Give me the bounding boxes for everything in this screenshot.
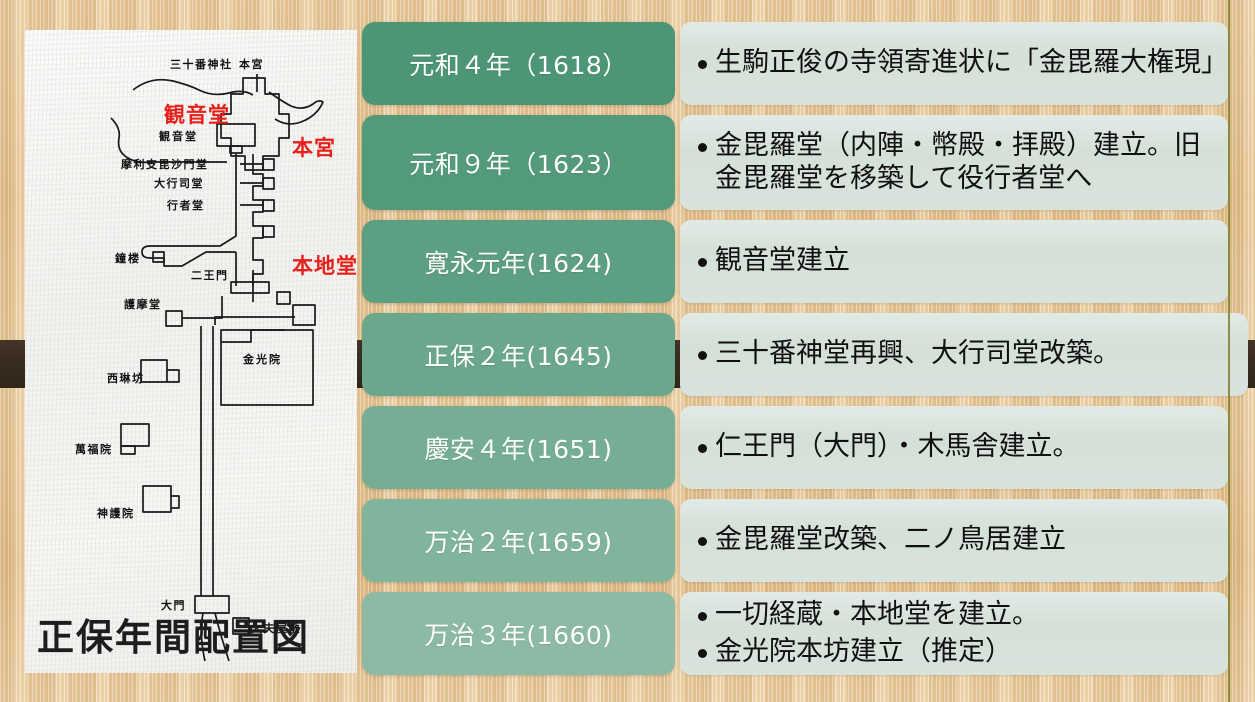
timeline-list: 生駒正俊の寺領寄進状に「金毘羅大権現」元和４年（1618）金毘羅堂（内陣・幣殿・… bbox=[0, 0, 1255, 702]
timeline-bullet-text: 金毘羅堂改築、二ノ鳥居建立 bbox=[715, 524, 1218, 557]
timeline-bullet: 仁王門（大門）・木馬舎建立。 bbox=[698, 431, 1218, 464]
bullet-dot-icon bbox=[698, 351, 707, 360]
timeline-bullet: 観音堂建立 bbox=[698, 245, 1218, 278]
timeline-content-panel: 三十番神堂再興、大行司堂改築。 bbox=[680, 313, 1248, 396]
timeline-content-panel: 生駒正俊の寺領寄進状に「金毘羅大権現」 bbox=[680, 22, 1228, 105]
timeline-year-label[interactable]: 寛永元年(1624) bbox=[362, 220, 675, 303]
timeline-content-panel: 金毘羅堂改築、二ノ鳥居建立 bbox=[680, 499, 1228, 582]
bullet-dot-icon bbox=[698, 649, 707, 658]
timeline-content-panel: 仁王門（大門）・木馬舎建立。 bbox=[680, 406, 1228, 489]
timeline-row[interactable]: 観音堂建立寛永元年(1624) bbox=[362, 220, 1228, 303]
bullet-dot-icon bbox=[698, 143, 707, 152]
timeline-bullet: 金毘羅堂改築、二ノ鳥居建立 bbox=[698, 524, 1218, 557]
bullet-dot-icon bbox=[698, 60, 707, 69]
timeline-year-label[interactable]: 万治３年(1660) bbox=[362, 592, 675, 675]
timeline-year-text: 万治２年(1659) bbox=[424, 523, 612, 559]
timeline-row[interactable]: 金毘羅堂改築、二ノ鳥居建立万治２年(1659) bbox=[362, 499, 1228, 582]
timeline-row[interactable]: 仁王門（大門）・木馬舎建立。慶安４年(1651) bbox=[362, 406, 1228, 489]
timeline-bullet: 生駒正俊の寺領寄進状に「金毘羅大権現」 bbox=[698, 47, 1218, 80]
timeline-bullet-text: 仁王門（大門）・木馬舎建立。 bbox=[715, 431, 1218, 464]
timeline-row[interactable]: 一切経蔵・本地堂を建立。金光院本坊建立（推定）万治３年(1660) bbox=[362, 592, 1228, 675]
timeline-row[interactable]: 生駒正俊の寺領寄進状に「金毘羅大権現」元和４年（1618） bbox=[362, 22, 1228, 105]
timeline-row[interactable]: 金毘羅堂（内陣・幣殿・拝殿）建立。旧金毘羅堂を移築して役行者堂へ元和９年（162… bbox=[362, 115, 1228, 210]
timeline-year-label[interactable]: 正保２年(1645) bbox=[362, 313, 675, 396]
timeline-row[interactable]: 三十番神堂再興、大行司堂改築。正保２年(1645) bbox=[362, 313, 1248, 396]
bullet-dot-icon bbox=[698, 258, 707, 267]
slide-canvas: 三十番神社 本宮 観音堂 摩利支毘沙門堂 大行司堂 行者堂 鐘楼 二王門 護摩堂… bbox=[0, 0, 1255, 702]
timeline-year-label[interactable]: 万治２年(1659) bbox=[362, 499, 675, 582]
timeline-year-text: 慶安４年(1651) bbox=[424, 430, 612, 466]
accent-edge-line bbox=[1228, 0, 1230, 702]
timeline-year-text: 元和４年（1618） bbox=[409, 46, 628, 82]
timeline-content-panel: 金毘羅堂（内陣・幣殿・拝殿）建立。旧金毘羅堂を移築して役行者堂へ bbox=[680, 115, 1228, 210]
timeline-year-label[interactable]: 元和９年（1623） bbox=[362, 115, 675, 210]
bullet-dot-icon bbox=[698, 444, 707, 453]
timeline-bullet: 一切経蔵・本地堂を建立。 bbox=[698, 599, 1218, 632]
timeline-year-text: 万治３年(1660) bbox=[424, 616, 612, 652]
bullet-dot-icon bbox=[698, 612, 707, 621]
timeline-bullet-text: 観音堂建立 bbox=[715, 245, 1218, 278]
timeline-content-panel: 一切経蔵・本地堂を建立。金光院本坊建立（推定） bbox=[680, 592, 1228, 675]
timeline-bullet-text: 金毘羅堂（内陣・幣殿・拝殿）建立。旧金毘羅堂を移築して役行者堂へ bbox=[715, 130, 1218, 196]
bullet-dot-icon bbox=[698, 537, 707, 546]
timeline-bullet: 三十番神堂再興、大行司堂改築。 bbox=[698, 338, 1238, 371]
timeline-year-label[interactable]: 慶安４年(1651) bbox=[362, 406, 675, 489]
timeline-year-label[interactable]: 元和４年（1618） bbox=[362, 22, 675, 105]
timeline-year-text: 正保２年(1645) bbox=[424, 337, 612, 373]
timeline-year-text: 寛永元年(1624) bbox=[424, 244, 612, 280]
timeline-year-text: 元和９年（1623） bbox=[409, 145, 628, 181]
timeline-bullet-text: 金光院本坊建立（推定） bbox=[715, 636, 1218, 669]
timeline-content-panel: 観音堂建立 bbox=[680, 220, 1228, 303]
timeline-bullet-text: 生駒正俊の寺領寄進状に「金毘羅大権現」 bbox=[715, 47, 1218, 80]
timeline-bullet-text: 三十番神堂再興、大行司堂改築。 bbox=[715, 338, 1238, 371]
timeline-bullet-text: 一切経蔵・本地堂を建立。 bbox=[715, 599, 1218, 632]
timeline-bullet: 金毘羅堂（内陣・幣殿・拝殿）建立。旧金毘羅堂を移築して役行者堂へ bbox=[698, 130, 1218, 196]
timeline-bullet: 金光院本坊建立（推定） bbox=[698, 636, 1218, 669]
